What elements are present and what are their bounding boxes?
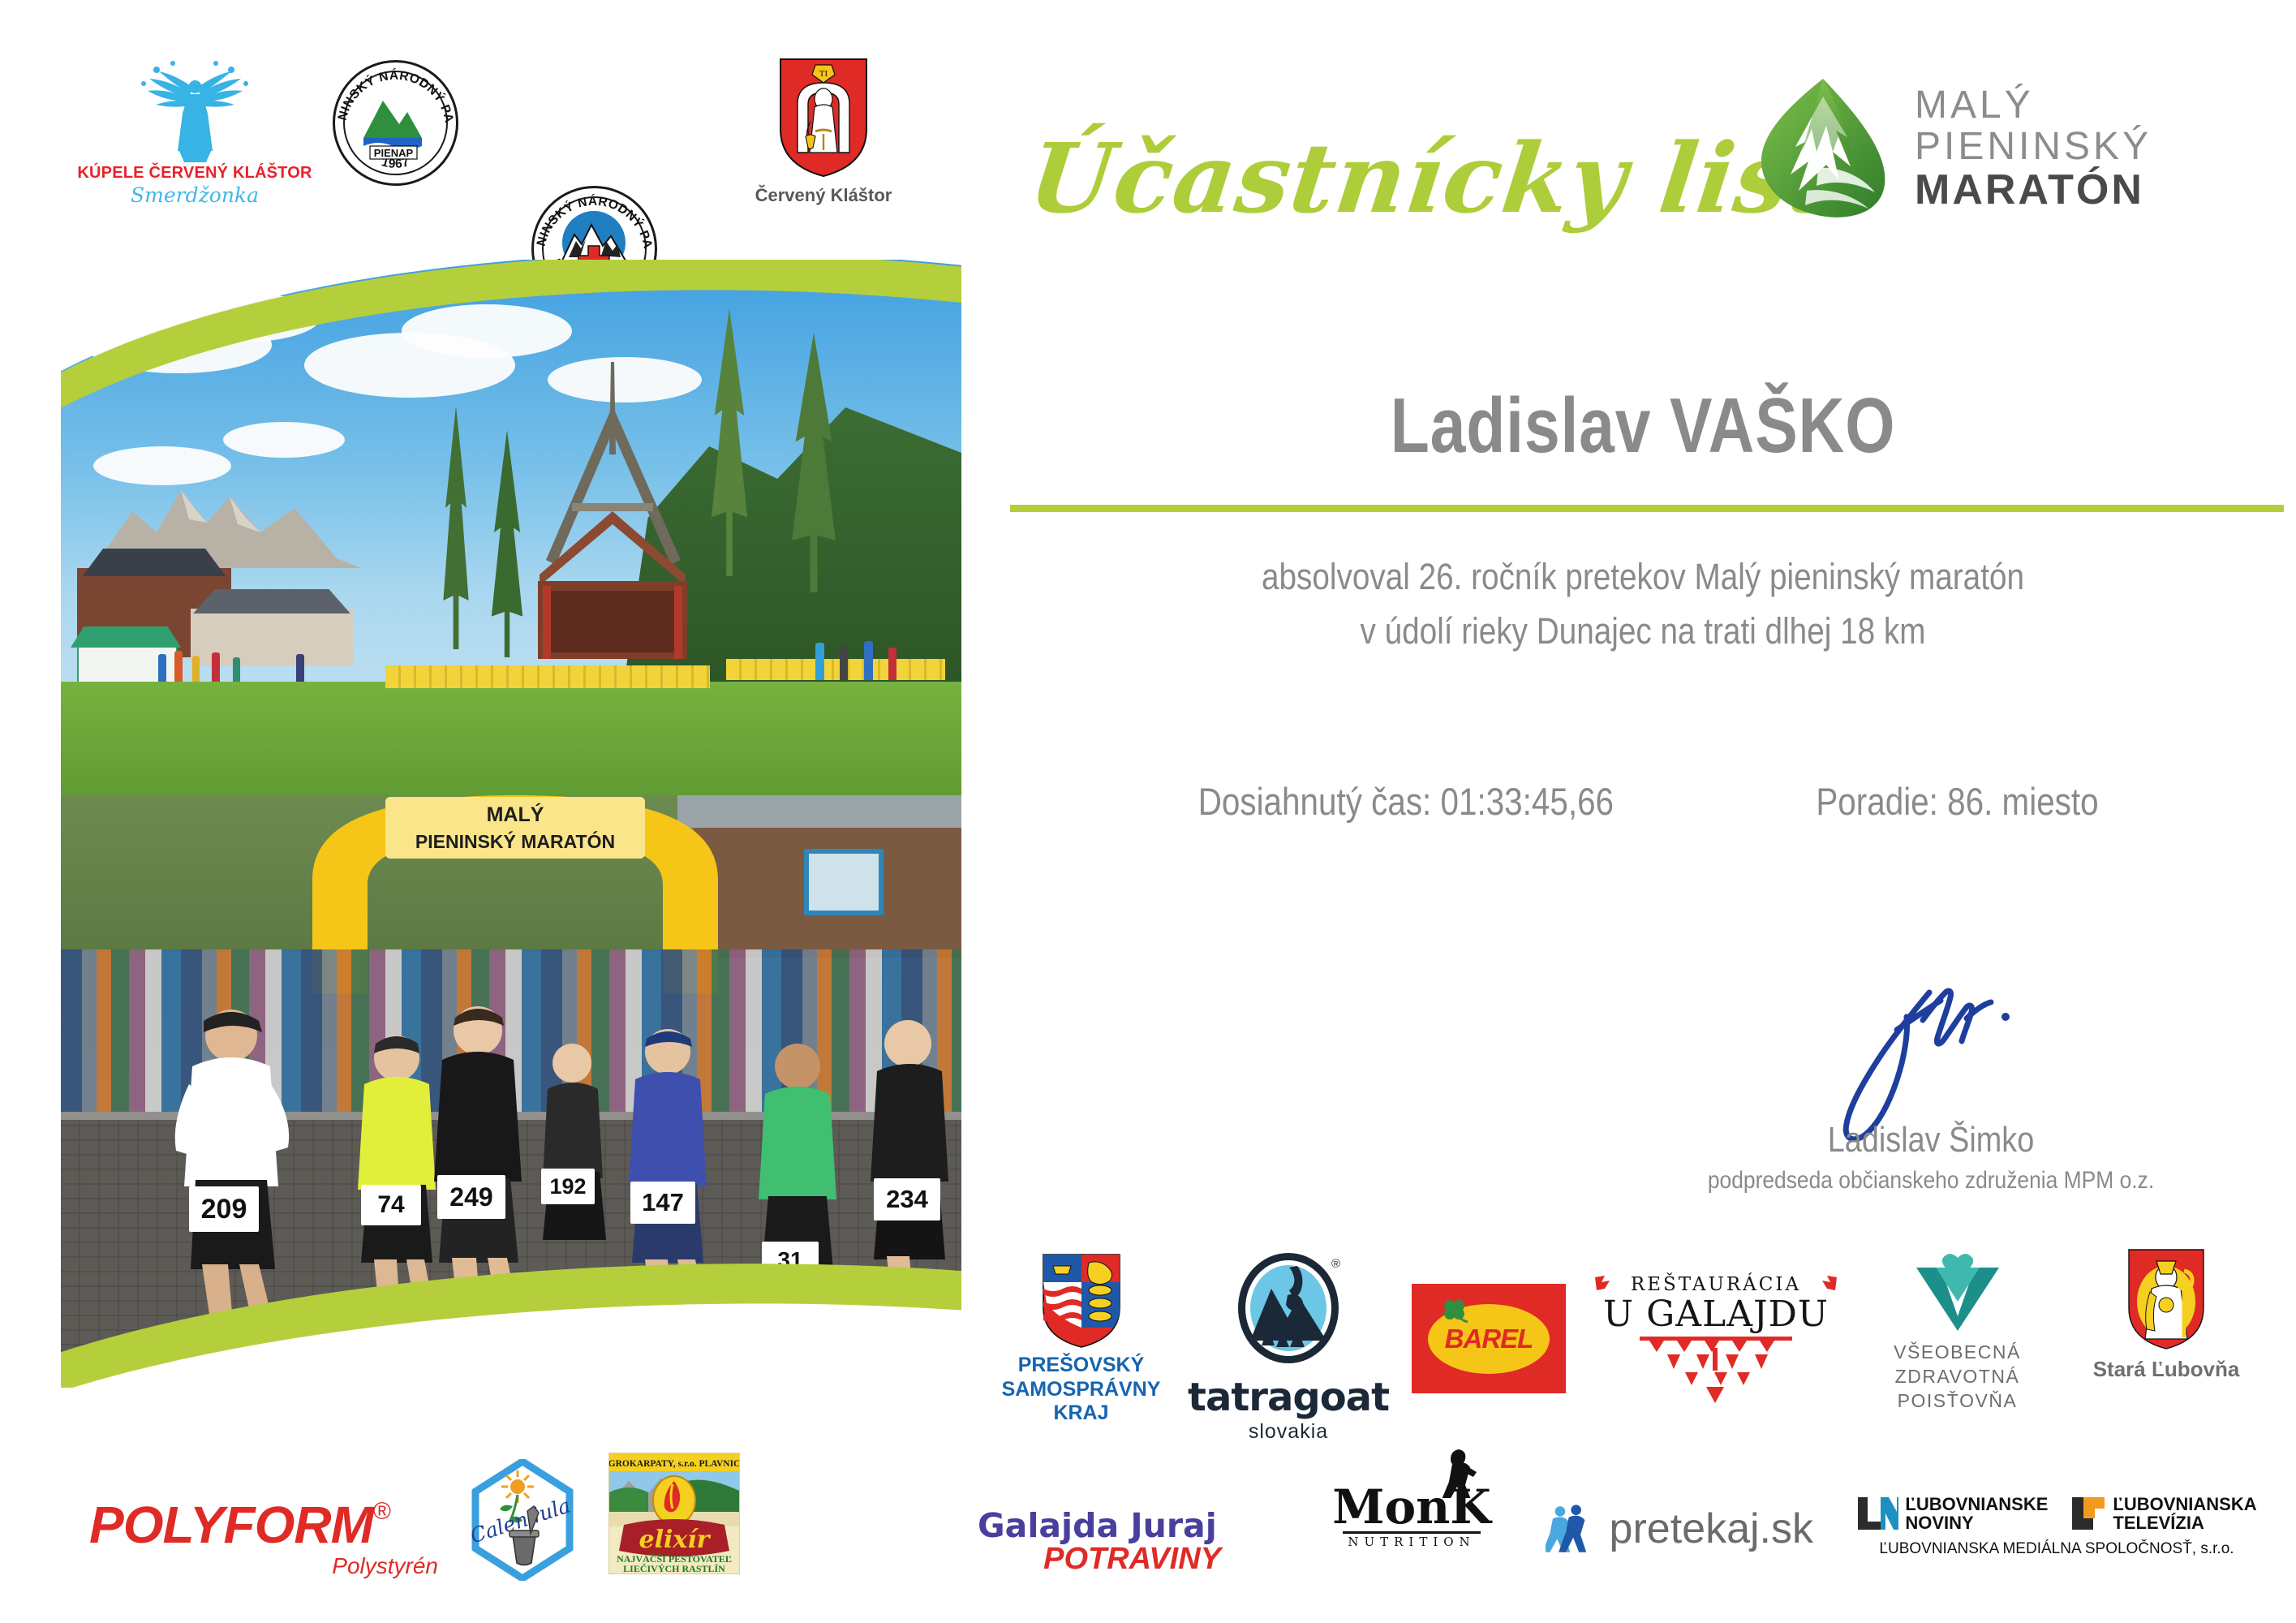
vzp-label: VŠEOBECNÁ ZDRAVOTNÁ POISŤOVŇA xyxy=(1894,1341,2021,1414)
runner: 147 xyxy=(596,1022,742,1347)
cabin-window xyxy=(804,849,884,915)
svg-text:TI: TI xyxy=(819,69,828,79)
stara-lubovna-arms-icon xyxy=(2127,1248,2205,1352)
agrokarpaty-elixir-label-icon: AGROKARPATY, s.r.o. PLAVNICA elixír NAJV… xyxy=(608,1453,740,1574)
clover-icon xyxy=(1441,1298,1468,1324)
participant-name: Ladislav VAŠKO xyxy=(1120,381,2165,471)
polyform-sub: Polystyrén xyxy=(89,1553,438,1579)
tatragoat-word: tatragoat xyxy=(1188,1375,1389,1420)
runner: 209 xyxy=(150,1006,312,1347)
runner-bib: 234 xyxy=(874,1178,940,1220)
grass-field xyxy=(61,682,961,795)
sponsor-row-2: Galajda Juraj POTRAVINY MonK NUTRITION xyxy=(978,1485,2276,1615)
signer-role: podpredseda občianskeho združenia MPM o.… xyxy=(1674,1167,2188,1195)
lt-line1: ĽUBOVNIANSKA xyxy=(2113,1495,2256,1513)
tatragoat-chamois-icon: ® xyxy=(1229,1250,1348,1371)
polyform-registered-icon: ® xyxy=(373,1498,391,1526)
folk-motif-right-icon xyxy=(1809,1274,1838,1295)
cerveny-klastor-coat-of-arms-icon: TI xyxy=(778,57,869,179)
presov-region-arms-icon xyxy=(1042,1253,1121,1349)
runner-bib: 147 xyxy=(630,1182,695,1224)
u-galajdu-folk-ornament-icon xyxy=(1635,1335,1797,1405)
galajda-line1: Galajda Juraj xyxy=(978,1506,1217,1545)
pretekaj-word: pretekaj.sk xyxy=(1610,1505,1813,1553)
water-wings-figure-icon xyxy=(108,57,282,162)
kupele-name: KÚPELE ČERVENÝ KLÁŠTOR xyxy=(77,164,312,183)
cloud xyxy=(402,304,572,358)
pretekaj-runners-icon xyxy=(1546,1500,1598,1558)
sponsor-pienap: PIENINSKÝ NÁRODNÝ PARK 1967 PIENAP xyxy=(333,60,458,186)
u-galajdu-main: U GALAJDU xyxy=(1603,1294,1829,1335)
tent-roof xyxy=(71,626,181,648)
person xyxy=(888,648,896,680)
ln-text: ĽUBOVNIANSKE NOVINY xyxy=(1905,1495,2048,1532)
calendula-mortar-icon: Calendula xyxy=(471,1459,574,1581)
event-logo-line2: PIENINSKÝ xyxy=(1915,127,2152,168)
place-rank: Poradie: 86. miesto xyxy=(1817,779,2099,824)
person xyxy=(815,643,824,680)
runner-bib: 31 xyxy=(762,1242,819,1279)
lubovnianska-medialna-note: ĽUBOVNIANSKA MEDIÁLNA SPOLOČNOSŤ, s.r.o. xyxy=(1879,1540,2234,1558)
presovsky-l1: PREŠOVSKÝ xyxy=(1002,1354,1161,1378)
sponsor-row-1: PREŠOVSKÝ SAMOSPRÁVNY KRAJ ® tatragoat s… xyxy=(986,1242,2276,1444)
event-logo: MALÝ PIENINSKÝ MARATÓN xyxy=(1748,77,2284,223)
sponsor-monk-nutrition: MonK NUTRITION xyxy=(1302,1485,1521,1549)
seating-row xyxy=(726,659,945,680)
lt-text: ĽUBOVNIANSKA TELEVÍZIA xyxy=(2113,1495,2256,1532)
person xyxy=(158,654,166,682)
barel-oval-icon: BAREL xyxy=(1412,1284,1566,1393)
person xyxy=(296,654,304,682)
sponsor-vzp: VŠEOBECNÁ ZDRAVOTNÁ POISŤOVŇA xyxy=(1870,1253,2044,1414)
green-mountain-leaf-icon xyxy=(1748,77,1898,219)
venue-photo xyxy=(61,260,961,795)
lubovnianska-televizia: ĽUBOVNIANSKA TELEVÍZIA xyxy=(2070,1495,2256,1532)
ln-line2: NOVINY xyxy=(1905,1513,2048,1532)
finish-time: Dosiahnutý čas: 01:33:45,66 xyxy=(1197,779,1613,824)
certificate-body-line-1: absolvoval 26. ročník pretekov Malý pien… xyxy=(1095,556,2191,598)
pienap-mountain-icon: PIENAP xyxy=(360,88,431,161)
sponsor-calendula: Calendula xyxy=(471,1459,574,1581)
tatragoat-sub: slovakia xyxy=(1249,1420,1328,1444)
runner-bib: 249 xyxy=(437,1175,505,1219)
u-galajdu-top: REŠTAURÁCIA xyxy=(1631,1274,1801,1295)
folk-motif-left-icon xyxy=(1593,1274,1623,1295)
sponsor-tatragoat: ® tatragoat slovakia xyxy=(1203,1250,1374,1444)
certificate-page: KÚPELE ČERVENÝ KLÁŠTOR Smerdžonka PIENIN… xyxy=(0,0,2296,1623)
event-logo-line3: MARATÓN xyxy=(1915,168,2152,213)
presovsky-l2: SAMOSPRÁVNY xyxy=(1002,1378,1161,1402)
cloud xyxy=(223,422,345,458)
certificate-body-line-2: v údolí rieky Dunajec na trati dlhej 18 … xyxy=(1095,610,2191,652)
runner-bib: 192 xyxy=(541,1169,595,1204)
monk-runner-icon xyxy=(1436,1448,1478,1498)
event-logo-wordmark: MALÝ PIENINSKÝ MARATÓN xyxy=(1915,85,2152,213)
sponsor-agrokarpaty: AGROKARPATY, s.r.o. PLAVNICA elixír NAJV… xyxy=(608,1453,740,1574)
monk-sub: NUTRITION xyxy=(1348,1535,1475,1549)
signature-block: Ladislav Šimko podpredseda občianskeho z… xyxy=(1639,998,2223,1195)
signer-name: Ladislav Šimko xyxy=(1679,1120,2182,1160)
person xyxy=(174,651,183,682)
runner-bib: 209 xyxy=(189,1186,259,1232)
person xyxy=(192,656,200,682)
runner: 234 xyxy=(840,1014,961,1347)
sponsor-stara-lubovna: Stará Ľubovňa xyxy=(2081,1248,2251,1382)
stara-lubovna-label: Stará Ľubovňa xyxy=(2093,1357,2240,1382)
ln-line1: ĽUBOVNIANSKE xyxy=(1905,1495,2048,1513)
sponsor-lubovnianska-medialna: ĽUBOVNIANSKE NOVINY ĽUBOVNIANSKA TELEVÍZ… xyxy=(1846,1495,2268,1558)
barel-oval: BAREL xyxy=(1428,1304,1550,1374)
lt-logo-icon xyxy=(2070,1496,2106,1531)
result-row: Dosiahnutý čas: 01:33:45,66 Poradie: 86.… xyxy=(1006,779,2280,824)
top-sponsor-logos: KÚPELE ČERVENÝ KLÁŠTOR Smerdžonka PIENIN… xyxy=(89,57,965,227)
lubovnianske-noviny: ĽUBOVNIANSKE NOVINY xyxy=(1856,1495,2048,1532)
vzp-l1: VŠEOBECNÁ xyxy=(1894,1341,2021,1365)
runners-photo: MALÝ PIENINSKÝ MARATÓN 209 xyxy=(61,795,961,1388)
sponsor-cerveny-klastor: TI Červený Kláštor xyxy=(730,57,917,206)
person xyxy=(840,646,848,680)
green-divider xyxy=(1010,505,2284,512)
svg-text:®: ® xyxy=(1331,1257,1340,1271)
vzp-l3: POISŤOVŇA xyxy=(1894,1389,2021,1414)
sponsor-polyform: POLYFORM ® Polystyrén xyxy=(89,1495,438,1579)
cerveny-klastor-label: Červený Kláštor xyxy=(755,185,892,206)
bottom-left-sponsors: POLYFORM ® Polystyrén xyxy=(89,1453,949,1607)
vzp-heart-icon xyxy=(1913,1253,2002,1334)
sponsor-presovsky-kraj: PREŠOVSKÝ SAMOSPRÁVNY KRAJ xyxy=(986,1253,1176,1426)
svg-text:AGROKARPATY, s.r.o. PLAVNICA: AGROKARPATY, s.r.o. PLAVNICA xyxy=(609,1459,739,1469)
barel-word: BAREL xyxy=(1445,1324,1533,1354)
presovsky-l3: KRAJ xyxy=(1002,1401,1161,1426)
seating-row xyxy=(385,665,710,688)
amphitheatre xyxy=(442,357,783,682)
cloud xyxy=(158,292,320,342)
sponsor-u-galajdu: REŠTAURÁCIA U GALAJDU xyxy=(1602,1274,1829,1405)
person xyxy=(212,652,220,682)
sponsor-barel: BAREL xyxy=(1412,1284,1566,1393)
lt-line2: TELEVÍZIA xyxy=(2113,1513,2256,1532)
sponsor-galajda-juraj: Galajda Juraj POTRAVINY xyxy=(978,1506,1221,1577)
event-logo-line1: MALÝ xyxy=(1915,85,2152,127)
kupele-subname: Smerdžonka xyxy=(131,183,259,207)
arch-line2: PIENINSKÝ MARATÓN xyxy=(264,831,767,853)
page-title-script: Účastnícky list xyxy=(1023,122,1842,235)
person xyxy=(864,641,873,680)
sponsor-kupele-cerveny-klastor: KÚPELE ČERVENÝ KLÁŠTOR Smerdžonka xyxy=(89,57,300,207)
polyform-word: POLYFORM xyxy=(89,1495,373,1555)
svg-text:elixír: elixír xyxy=(639,1526,712,1554)
svg-text:PIENAP: PIENAP xyxy=(374,147,414,159)
vzp-l2: ZDRAVOTNÁ xyxy=(1894,1365,2021,1389)
galajda-line2: POTRAVINY xyxy=(978,1542,1221,1577)
arch-line1: MALÝ xyxy=(264,803,767,827)
person xyxy=(233,657,240,682)
presovsky-label: PREŠOVSKÝ SAMOSPRÁVNY KRAJ xyxy=(1002,1354,1161,1426)
photo-panel: MALÝ PIENINSKÝ MARATÓN 209 xyxy=(61,260,961,1396)
ln-logo-icon xyxy=(1856,1496,1898,1531)
sponsor-pretekaj: pretekaj.sk xyxy=(1546,1500,1813,1558)
svg-text:LIEČIVÝCH RASTLÍN: LIEČIVÝCH RASTLÍN xyxy=(623,1563,725,1573)
